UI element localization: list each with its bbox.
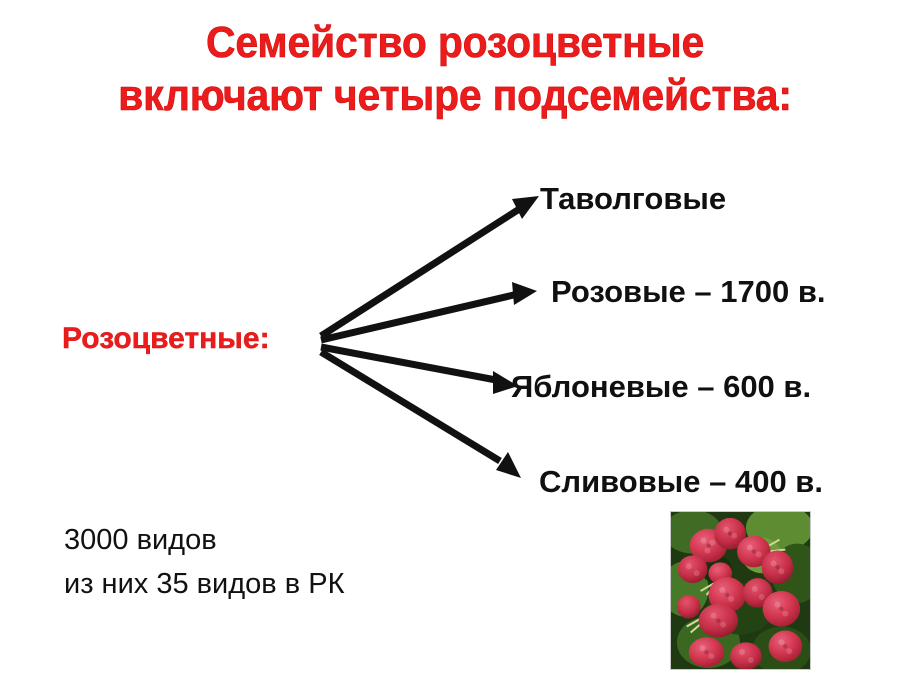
branch-label-tavolgovye: Таволговые <box>540 182 726 216</box>
title-line-1: Семейство розоцветные <box>32 16 878 69</box>
title-line-2: включают четыре подсемейства: <box>32 69 878 122</box>
branch-label-rozovye: Розовые – 1700 в. <box>551 275 826 309</box>
footnotes: 3000 видов из них 35 видов в РК <box>64 518 484 606</box>
page-title: Семейство розоцветные включают четыре по… <box>0 16 910 122</box>
arrow-to-branch-1 <box>321 282 537 340</box>
arrow-to-branch-0 <box>321 196 539 336</box>
arrow-to-branch-2 <box>321 347 518 394</box>
diagram-root-label: Розоцветные: <box>62 322 270 356</box>
arrow-to-branch-3 <box>321 352 521 478</box>
raspberry-photo <box>670 511 811 670</box>
slide-canvas: Семейство розоцветные включают четыре по… <box>0 0 910 683</box>
raspberry-photo-image <box>671 512 810 669</box>
branch-label-slivovye: Сливовые – 400 в. <box>539 465 823 499</box>
branch-label-yablonevye: Яблоневые – 600 в. <box>511 370 811 404</box>
footnote-line-1: 3000 видов <box>64 518 484 562</box>
footnote-line-2: из них 35 видов в РК <box>64 562 484 606</box>
